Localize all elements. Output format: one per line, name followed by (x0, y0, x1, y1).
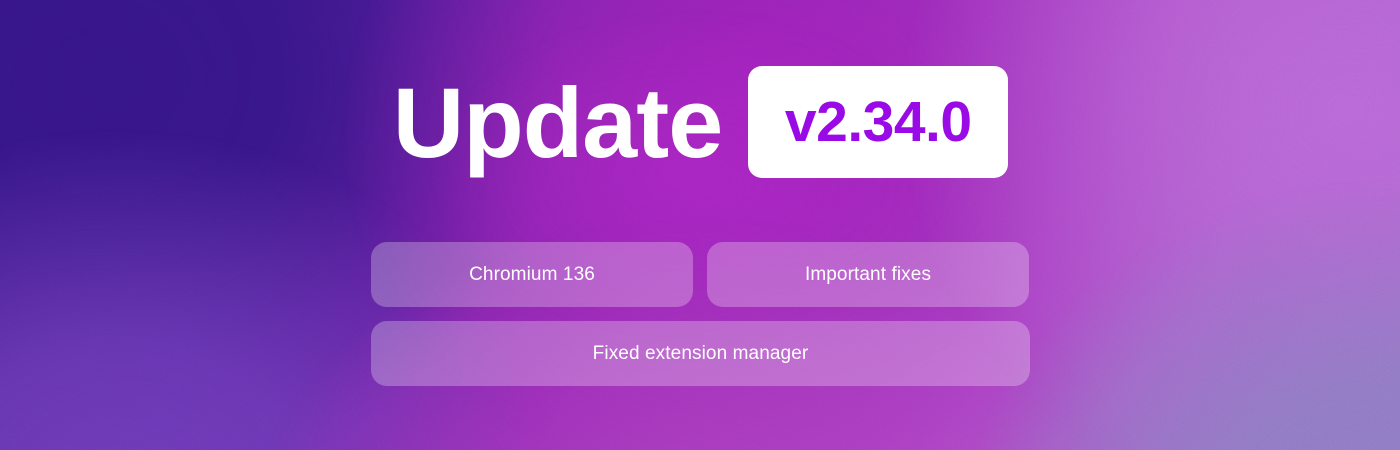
tag-chromium: Chromium 136 (371, 242, 693, 307)
tag-fixed-extension-manager: Fixed extension manager (371, 321, 1030, 386)
page-title: Update (393, 73, 723, 172)
version-badge: v2.34.0 (748, 66, 1008, 178)
tag-label: Fixed extension manager (593, 343, 809, 365)
title-row: Update v2.34.0 (371, 66, 1030, 178)
banner-content: Update v2.34.0 Chromium 136 Important fi… (0, 0, 1400, 450)
tag-list: Chromium 136 Important fixes Fixed exten… (371, 242, 1030, 386)
tag-important-fixes: Important fixes (707, 242, 1029, 307)
version-badge-label: v2.34.0 (785, 94, 972, 151)
update-banner: Update v2.34.0 Chromium 136 Important fi… (0, 0, 1400, 450)
tag-label: Important fixes (805, 264, 931, 286)
tag-label: Chromium 136 (469, 264, 595, 286)
